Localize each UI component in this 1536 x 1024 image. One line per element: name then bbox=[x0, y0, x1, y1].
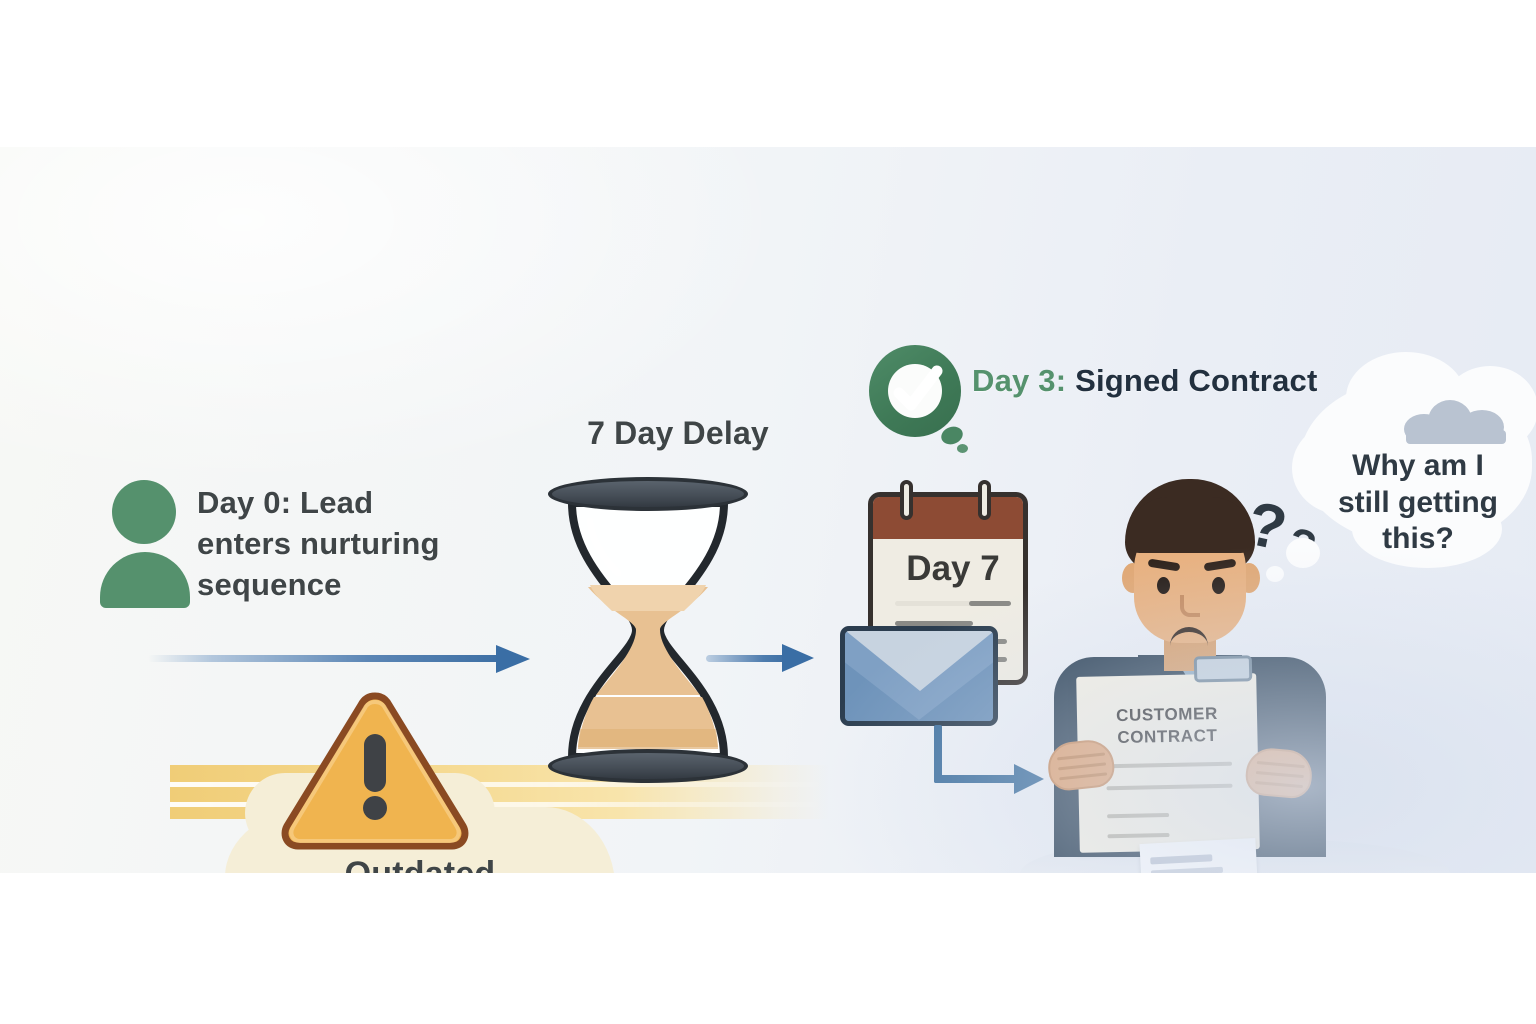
person-icon bbox=[100, 480, 190, 605]
day3-label-main: Signed Contract bbox=[1075, 363, 1317, 398]
person-eye-left bbox=[1157, 577, 1170, 594]
check-badge-icon bbox=[869, 345, 961, 437]
contract-clip bbox=[1194, 655, 1253, 682]
warning-triangle-icon bbox=[279, 686, 471, 856]
signature-card bbox=[1139, 838, 1258, 873]
thought-line1: Why am I bbox=[1314, 448, 1522, 485]
thought-bubble-tail-small bbox=[1266, 566, 1284, 582]
outdated-data-label: Outdated Customer Data bbox=[250, 852, 590, 873]
day3-label-accent: Day 3: bbox=[972, 363, 1066, 398]
thought-bubble-text: Why am I still getting this? bbox=[1314, 448, 1522, 558]
thought-line3: this? bbox=[1314, 521, 1522, 558]
day0-label-line2: enters nurturing bbox=[197, 523, 497, 564]
cloud-icon bbox=[1404, 400, 1508, 442]
delay-label: 7 Day Delay bbox=[548, 415, 808, 452]
envelope-icon bbox=[840, 626, 998, 726]
thought-line2: still getting bbox=[1314, 485, 1522, 522]
hourglass-icon bbox=[548, 477, 748, 783]
thought-bubble: Why am I still getting this? bbox=[1292, 352, 1536, 574]
contract-title-line1: CUSTOMER bbox=[1077, 703, 1257, 727]
calendar-day-text: Day 7 bbox=[873, 549, 1028, 589]
person-eye-right bbox=[1212, 577, 1225, 594]
outdated-label-line1: Outdated bbox=[250, 852, 590, 873]
day3-label: Day 3: Signed Contract bbox=[972, 363, 1317, 399]
person-nose bbox=[1180, 595, 1200, 617]
diagram-panel: Day 0: Lead enters nurturing sequence 7 … bbox=[0, 147, 1536, 873]
day0-label: Day 0: Lead enters nurturing sequence bbox=[197, 482, 497, 606]
arrow-day0-to-delay bbox=[148, 647, 548, 671]
arrow-delay-to-email bbox=[706, 647, 826, 671]
day0-label-line1: Day 0: Lead bbox=[197, 482, 497, 523]
person-hair-top bbox=[1126, 497, 1254, 553]
day0-label-line3: sequence bbox=[197, 564, 497, 605]
illustration-canvas: Day 0: Lead enters nurturing sequence 7 … bbox=[0, 0, 1536, 1024]
